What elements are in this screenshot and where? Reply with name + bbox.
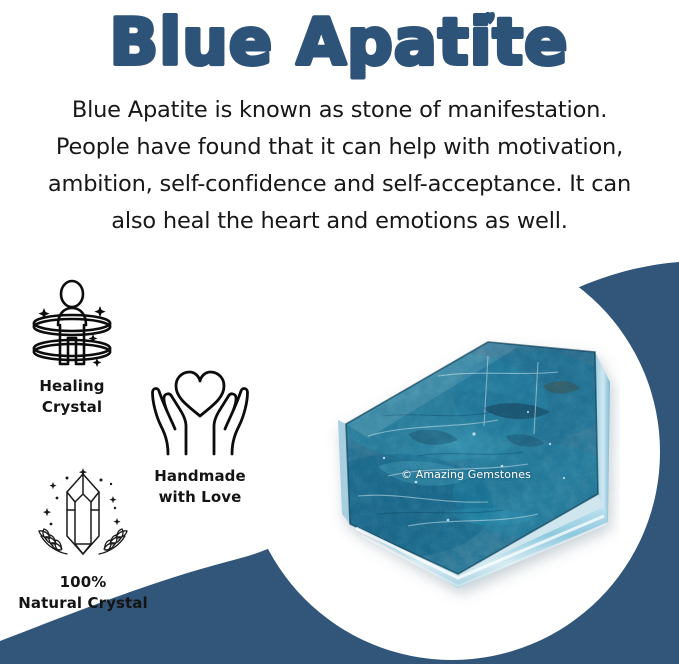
- product-photo: © Amazing Gemstones: [288, 316, 620, 616]
- page-title: Blue Apatite: [0, 2, 679, 88]
- page-title-text: Blue Apatite: [109, 6, 568, 80]
- page-title-artwork: Blue Apatite: [0, 2, 679, 88]
- description-line: Blue Apatite is known as stone of manife…: [18, 92, 661, 129]
- healing-crystal-icon: [20, 278, 124, 370]
- blue-apatite-stone-image: [288, 316, 620, 616]
- description-line: People have found that it can help with …: [18, 129, 661, 166]
- badge-healing-crystal: Healing Crystal: [8, 278, 136, 418]
- badge-label: Healing Crystal: [8, 376, 136, 418]
- sparkle-icon: [43, 468, 121, 525]
- crystal-point-laurel-icon: [23, 466, 143, 566]
- badge-natural-crystal: 100% Natural Crystal: [8, 466, 158, 614]
- description-line: ambition, self-confidence and self-accep…: [18, 166, 661, 203]
- badge-label: 100% Natural Crystal: [8, 572, 158, 614]
- description-line: also heal the heart and emotions as well…: [18, 203, 661, 240]
- product-infographic-page: Blue Apatite Blue Apatite is known as st…: [0, 0, 679, 664]
- hands-holding-heart-icon: [150, 368, 250, 460]
- description-paragraph: Blue Apatite is known as stone of manife…: [18, 92, 661, 240]
